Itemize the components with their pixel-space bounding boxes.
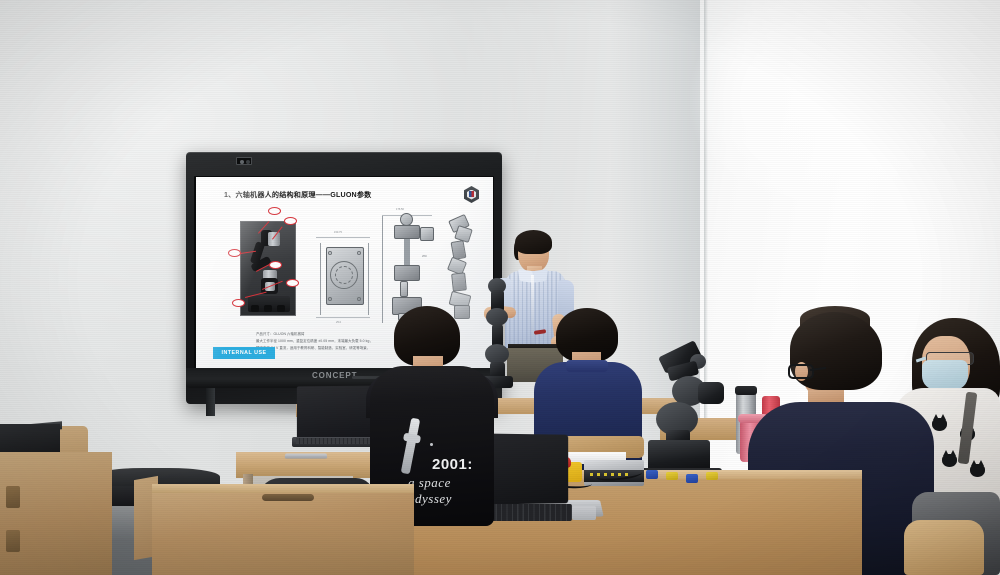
- dimension-label: 25.0: [336, 321, 341, 324]
- tshirt-print-line2: a space odyssey: [408, 475, 452, 507]
- window-glare: [690, 0, 1000, 290]
- dimension-label: 176.50: [396, 208, 404, 211]
- external-keyboard[interactable]: [285, 453, 328, 458]
- thermos-cap[interactable]: [735, 386, 757, 395]
- yellow-connector: [706, 472, 718, 480]
- dimension-label: 150.75: [334, 231, 342, 234]
- glasses-icon: [788, 364, 814, 379]
- chair-right: [904, 520, 984, 575]
- slide-title: 1、六轴机器人的结构和原理——GLUON参数: [224, 190, 371, 200]
- robot-arm-handheld: [478, 278, 516, 388]
- callout-2: [284, 217, 297, 225]
- robot-photo: [240, 221, 296, 316]
- laptop-silver-keyboard[interactable]: [486, 504, 572, 521]
- tshirt-print-line1: 2001:: [432, 456, 473, 473]
- callout-5: [286, 279, 299, 287]
- internal-use-badge: INTERNAL USE: [213, 347, 275, 359]
- classroom-scene-photo: 1、六轴机器人的结构和原理——GLUON参数: [0, 0, 1000, 575]
- display-stand-left: [206, 388, 215, 416]
- callout-4: [269, 261, 282, 269]
- cardboard-box-front-top: [152, 484, 414, 493]
- tshirt-graphic-dot: [430, 443, 433, 446]
- company-logo-icon: [464, 186, 479, 203]
- callout-6: [232, 299, 245, 307]
- webcam-icon: [236, 157, 252, 165]
- laptop-windows-keyboard[interactable]: [296, 438, 374, 444]
- presenter-hair: [515, 230, 552, 254]
- cardboard-box-large: [0, 452, 112, 575]
- dimension-label: Ø80: [422, 255, 427, 258]
- navy-polo-collar: [566, 360, 608, 372]
- blue-connector: [686, 474, 698, 483]
- display-brand-label: CONCEPT: [312, 371, 357, 380]
- callout-1: [268, 207, 281, 215]
- yellow-connector: [666, 472, 678, 480]
- face-mask-icon: [922, 360, 968, 390]
- cardboard-box-handle: [262, 494, 314, 501]
- presenter-shirt-placket: [531, 275, 534, 347]
- blue-connector: [646, 470, 658, 479]
- laptop-windows-lid[interactable]: [297, 386, 374, 441]
- technical-drawing-top-view: 150.75 25.0: [314, 229, 376, 325]
- laptop-silver-trackpad[interactable]: [572, 506, 596, 520]
